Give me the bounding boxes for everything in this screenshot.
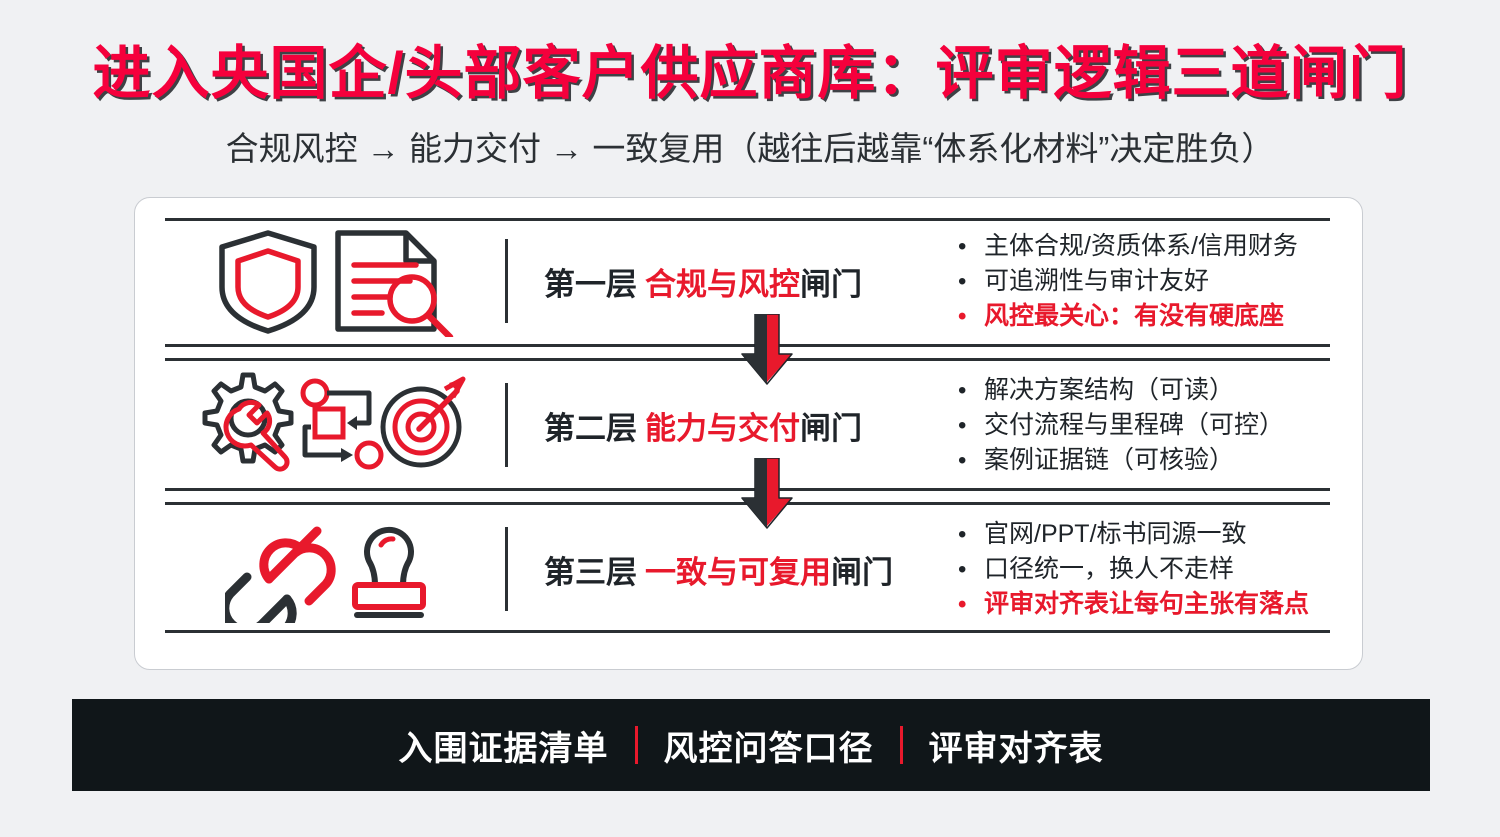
gate-1-label-suffix: 闸门	[800, 267, 862, 302]
bullet-marker-icon: •	[958, 373, 984, 408]
bullet-marker-icon: •	[958, 517, 984, 552]
list-item: • 官网/PPT/标书同源一致	[958, 517, 1330, 552]
gate-2-icons	[165, 362, 505, 488]
gate-1-icons	[165, 218, 505, 344]
list-item: • 交付流程与里程碑（可控）	[958, 408, 1330, 443]
gate-1-label: 第一层合规与风控闸门	[508, 259, 938, 304]
bullet-marker-icon: •	[958, 587, 984, 622]
list-item-text: 交付流程与里程碑（可控）	[984, 408, 1284, 443]
list-item: • 可追溯性与审计友好	[958, 264, 1330, 299]
gear-flowchart-target-icon	[201, 371, 469, 479]
gate-row-3: 第三层一致与可复用闸门 • 官网/PPT/标书同源一致 • 口径统一，换人不走样…	[165, 506, 1330, 632]
bullet-marker-icon: •	[958, 552, 984, 587]
list-item-text: 口径统一，换人不走样	[984, 552, 1234, 587]
gate-2-label-suffix: 闸门	[800, 411, 862, 446]
gate-2-label-accent: 能力与交付	[645, 411, 800, 446]
gate-1-label-prefix: 第一层	[544, 267, 637, 302]
bullet-marker-icon: •	[958, 229, 984, 264]
chain-link-and-stamp-icon	[225, 515, 445, 623]
gate-2-label: 第二层能力与交付闸门	[508, 403, 938, 448]
bullet-marker-icon: •	[958, 408, 984, 443]
gate-3-label: 第三层一致与可复用闸门	[508, 547, 938, 592]
footer-item-1: 入围证据清单	[399, 721, 609, 770]
list-item-text: 风控最关心：有没有硬底座	[984, 299, 1284, 334]
gates-card: 第一层合规与风控闸门 • 主体合规/资质体系/信用财务 • 可追溯性与审计友好 …	[134, 197, 1363, 670]
gate-3-label-accent: 一致与可复用	[645, 555, 831, 590]
shield-and-document-search-icon	[210, 225, 460, 337]
footer-separator	[900, 726, 903, 764]
header: 进入央国企/头部客户供应商库：评审逻辑三道闸门 合规风控 → 能力交付 → 一致…	[0, 0, 1500, 190]
list-item-text: 可追溯性与审计友好	[984, 264, 1209, 299]
gate-2-bullets: • 解决方案结构（可读） • 交付流程与里程碑（可控） • 案例证据链（可核验）	[938, 373, 1330, 478]
footer-separator	[635, 726, 638, 764]
footer-item-3: 评审对齐表	[929, 721, 1104, 770]
page-title: 进入央国企/头部客户供应商库：评审逻辑三道闸门	[0, 26, 1500, 110]
bullet-marker-icon: •	[958, 443, 984, 478]
bullet-marker-icon: •	[958, 299, 984, 334]
list-item: • 解决方案结构（可读）	[958, 373, 1330, 408]
list-item-text: 评审对齐表让每句主张有落点	[984, 587, 1309, 622]
list-item-text: 官网/PPT/标书同源一致	[984, 517, 1247, 552]
bullet-marker-icon: •	[958, 264, 984, 299]
list-item-text: 解决方案结构（可读）	[984, 373, 1234, 408]
gate-1-label-accent: 合规与风控	[645, 267, 800, 302]
list-item: • 案例证据链（可核验）	[958, 443, 1330, 478]
gate-1-bullets: • 主体合规/资质体系/信用财务 • 可追溯性与审计友好 • 风控最关心：有没有…	[938, 229, 1330, 334]
list-item: • 主体合规/资质体系/信用财务	[958, 229, 1330, 264]
gate-3-bullets: • 官网/PPT/标书同源一致 • 口径统一，换人不走样 • 评审对齐表让每句主…	[938, 517, 1330, 622]
gate-3-icons	[165, 506, 505, 632]
page-subtitle: 合规风控 → 能力交付 → 一致复用（越往后越靠“体系化材料”决定胜负）	[0, 122, 1500, 170]
list-item: • 评审对齐表让每句主张有落点	[958, 587, 1330, 622]
gate-3-label-suffix: 闸门	[831, 555, 893, 590]
gate-2-label-prefix: 第二层	[544, 411, 637, 446]
list-item-text: 案例证据链（可核验）	[984, 443, 1234, 478]
footer-item-2: 风控问答口径	[664, 721, 874, 770]
footer-banner: 入围证据清单 风控问答口径 评审对齐表	[72, 699, 1430, 791]
list-item: • 风控最关心：有没有硬底座	[958, 299, 1330, 334]
list-item: • 口径统一，换人不走样	[958, 552, 1330, 587]
list-item-text: 主体合规/资质体系/信用财务	[984, 229, 1298, 264]
gate-3-label-prefix: 第三层	[544, 555, 637, 590]
